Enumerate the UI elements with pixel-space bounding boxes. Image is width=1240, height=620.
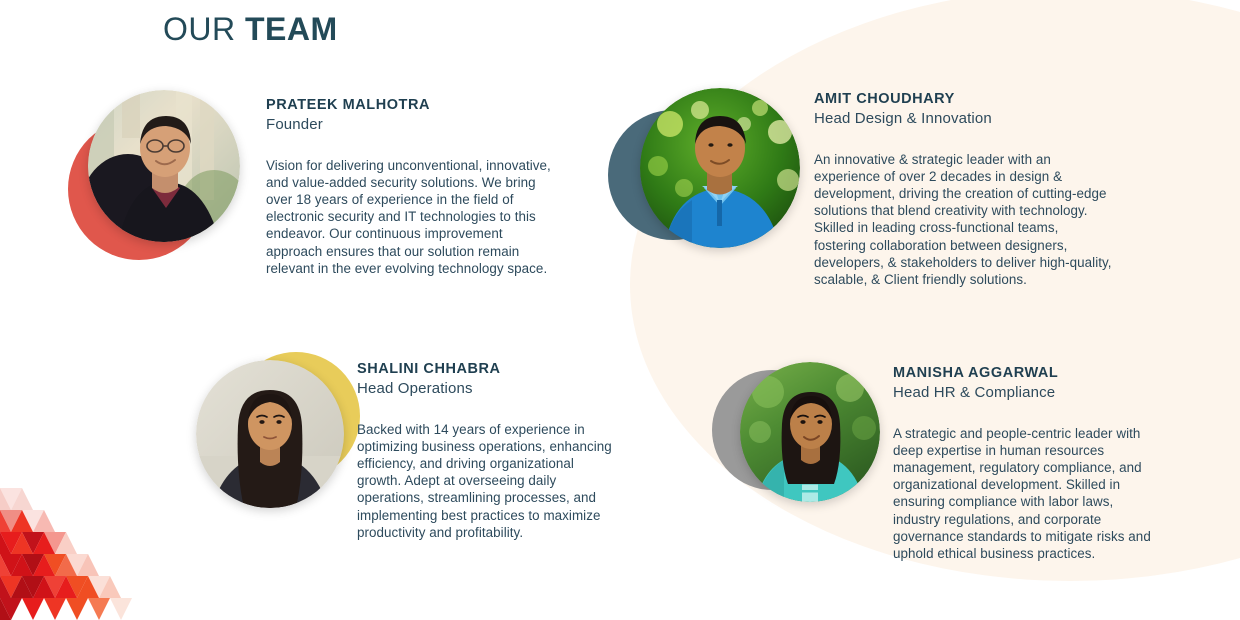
page-title: OUR TEAM: [163, 11, 338, 48]
portrait-manisha-aggarwal: [740, 362, 880, 502]
page-title-bold: TEAM: [245, 11, 338, 47]
member-name: AMIT CHOUDHARY: [814, 90, 1114, 108]
member-bio: A strategic and people-centric leader wi…: [893, 425, 1161, 563]
member-role: Founder: [266, 115, 562, 135]
member-bio: Backed with 14 years of experience in op…: [357, 421, 619, 541]
member-name: PRATEEK MALHOTRA: [266, 96, 562, 114]
member-role: Head Design & Innovation: [814, 109, 1114, 129]
member-role: Head Operations: [357, 379, 619, 399]
portrait-shalini-chhabra: [196, 360, 344, 508]
member-info: SHALINI CHHABRA Head Operations Backed w…: [357, 360, 619, 541]
page-title-light: OUR: [163, 11, 245, 47]
member-photo-wrap: [196, 352, 356, 512]
member-info: PRATEEK MALHOTRA Founder Vision for deli…: [266, 96, 562, 277]
member-bio: An innovative & strategic leader with an…: [814, 151, 1114, 289]
red-triangle-mosaic: [0, 488, 132, 620]
portrait-prateek-malhotra: [88, 90, 240, 242]
member-name: SHALINI CHHABRA: [357, 360, 619, 378]
member-name: MANISHA AGGARWAL: [893, 364, 1161, 382]
member-info: AMIT CHOUDHARY Head Design & Innovation …: [814, 90, 1114, 288]
member-bio: Vision for delivering unconventional, in…: [266, 157, 562, 277]
portrait-amit-choudhary: [640, 88, 800, 248]
member-photo-wrap: [712, 362, 872, 512]
member-role: Head HR & Compliance: [893, 383, 1161, 403]
member-info: MANISHA AGGARWAL Head HR & Compliance A …: [893, 364, 1161, 562]
member-photo-wrap: [68, 90, 238, 260]
member-photo-wrap: [608, 88, 778, 258]
